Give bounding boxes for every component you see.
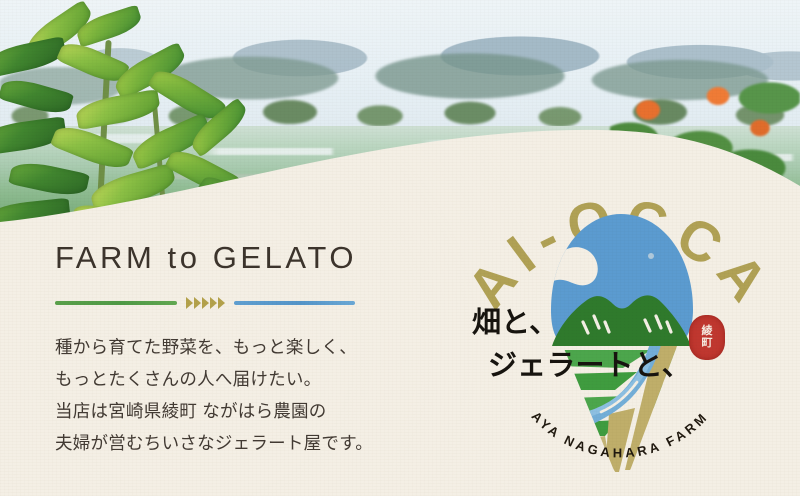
brand-logo: AI-OCCA: [455, 150, 785, 480]
seal-char-2: 町: [702, 338, 713, 350]
decorative-divider: [55, 296, 355, 310]
body-line: 種から育てた野菜を、もっと楽しく、: [55, 332, 455, 364]
chevron-right-icon: [194, 297, 201, 309]
hero-banner: FARM to GELATO 種から育てた野菜を、もっと楽しく、 もっとたくさん…: [0, 0, 800, 496]
body-line: 当店は宮崎県綾町 ながはら農園の: [55, 396, 455, 428]
page-title: FARM to GELATO: [55, 240, 455, 276]
copy-block: FARM to GELATO 種から育てた野菜を、もっと楽しく、 もっとたくさん…: [55, 240, 455, 459]
body-line: 夫婦が営むちいさなジェラート屋です。: [55, 428, 455, 460]
divider-chevrons: [186, 297, 225, 309]
aya-town-seal: 綾 町: [689, 315, 725, 360]
divider-rule-right: [234, 301, 356, 305]
body-copy: 種から育てた野菜を、もっと楽しく、 もっとたくさんの人へ届けたい。 当店は宮崎県…: [55, 332, 455, 459]
divider-rule-left: [55, 301, 177, 305]
body-line: もっとたくさんの人へ届けたい。: [55, 364, 455, 396]
chevron-right-icon: [218, 297, 225, 309]
seal-char-1: 綾: [702, 326, 713, 338]
chevron-right-icon: [202, 297, 209, 309]
chevron-right-icon: [210, 297, 217, 309]
chevron-right-icon: [186, 297, 193, 309]
